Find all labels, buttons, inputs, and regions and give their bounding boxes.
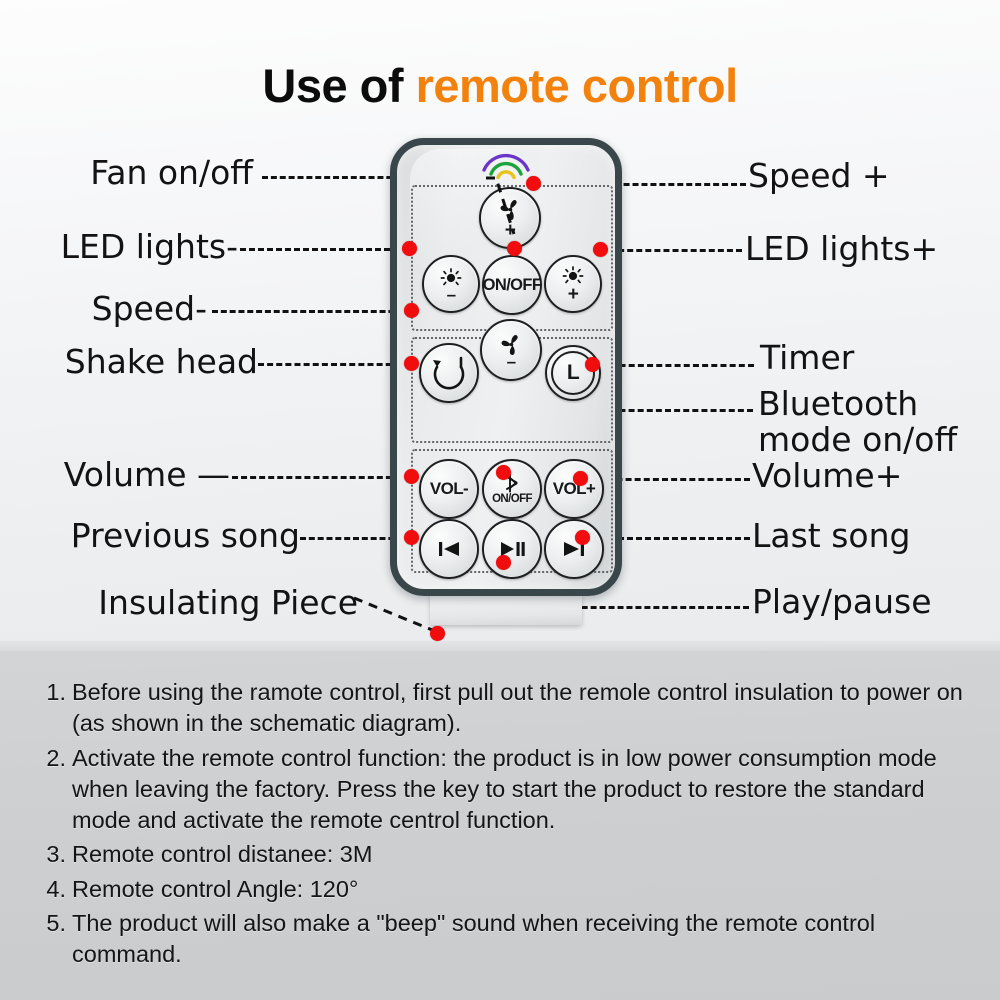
- instruction-item: 2. Activate the remote control function:…: [34, 743, 970, 837]
- volume-down-button[interactable]: VOL-: [419, 459, 479, 519]
- label-text: Play/pause: [752, 582, 932, 621]
- instruction-item: 5. The product will also make a "beep" s…: [34, 908, 970, 971]
- power-label: ON/OFF: [483, 276, 542, 295]
- label-text: Previous song: [71, 516, 300, 555]
- instruction-item: 4. Remote control Angle: 120°: [34, 874, 970, 905]
- instruction-number: 3.: [34, 839, 66, 870]
- instruction-item: 3. Remote control distanee: 3M: [34, 839, 970, 870]
- led-up-sign: +: [568, 288, 579, 301]
- label-text: LED lights+: [745, 229, 938, 268]
- fan-speed-down-button[interactable]: –: [480, 319, 542, 381]
- label-text: Volume —: [64, 455, 230, 494]
- marker-last-song: [575, 530, 590, 545]
- label-volume-minus: Volume —: [64, 457, 230, 493]
- instruction-text: Before using the ramote control, first p…: [72, 679, 963, 736]
- label-text: LED lights-: [61, 227, 238, 266]
- marker-bluetooth: [496, 465, 511, 480]
- label-text: Speed-: [92, 289, 207, 328]
- power-on-off-button[interactable]: ON/OFF: [482, 255, 542, 315]
- label-timer: Timer: [760, 340, 854, 376]
- label-text: Volume+: [752, 456, 902, 495]
- volume-down-label: VOL-: [430, 479, 468, 499]
- label-bluetooth-mode: Bluetooth mode on/off: [758, 386, 957, 457]
- play-pause-button[interactable]: [482, 519, 542, 579]
- timer-label: L: [567, 361, 579, 385]
- previous-track-icon: [435, 539, 463, 559]
- insulating-piece-tab: [430, 592, 582, 625]
- next-track-button[interactable]: [544, 519, 604, 579]
- label-fan-on-off: Fan on/off: [90, 155, 253, 191]
- label-speed-plus: Speed +: [748, 158, 890, 194]
- label-shake-head: Shake head: [65, 344, 258, 380]
- instruction-text: Remote control Angle: 120°: [72, 876, 358, 902]
- label-speed-minus: Speed-: [92, 291, 207, 327]
- page-title: Use of remote control: [0, 58, 1000, 113]
- infographic-root: Use of remote control Fan on/off LED lig…: [0, 0, 1000, 1000]
- oscillate-icon: [429, 354, 469, 392]
- marker-play-pause: [496, 555, 511, 570]
- label-text: Fan on/off: [90, 153, 253, 192]
- previous-track-button[interactable]: [419, 519, 479, 579]
- shake-head-button[interactable]: [419, 343, 479, 403]
- leader-volume-minus: [232, 476, 410, 479]
- label-text: Insulating Piece: [98, 583, 358, 622]
- marker-speed-minus: [404, 303, 419, 318]
- marker-previous-song: [404, 530, 419, 545]
- diagram-panel: Use of remote control Fan on/off LED lig…: [0, 0, 1000, 651]
- timer-button[interactable]: L: [545, 345, 601, 401]
- label-previous-song: Previous song: [71, 518, 300, 554]
- marker-volume-minus: [404, 469, 419, 484]
- label-text: Bluetooth: [758, 384, 918, 423]
- label-text: Speed +: [748, 156, 890, 195]
- label-led-lights-plus: LED lights+: [745, 231, 938, 267]
- leader-speed-minus: [212, 310, 412, 313]
- instruction-text: Activate the remote control function: th…: [72, 745, 937, 834]
- leader-shake-head: [258, 363, 410, 366]
- instruction-list: 1. Before using the ramote control, firs…: [34, 677, 970, 970]
- marker-led-minus: [402, 241, 417, 256]
- instructions-panel: 1. Before using the ramote control, firs…: [0, 651, 1000, 1000]
- leader-led-minus: [240, 248, 408, 251]
- marker-fan-on-off: [507, 241, 522, 256]
- marker-insulating-piece: [430, 626, 445, 641]
- instruction-text: The product will also make a "beep" soun…: [72, 910, 875, 967]
- label-insulating-piece: Insulating Piece: [98, 585, 358, 621]
- instruction-number: 4.: [34, 874, 66, 905]
- label-text: Timer: [760, 338, 854, 377]
- marker-volume-plus: [573, 471, 588, 486]
- led-up-button[interactable]: +: [544, 255, 602, 313]
- label-text-line2: mode on/off: [758, 420, 957, 459]
- instruction-number: 1.: [34, 677, 66, 708]
- instruction-text: Remote control distanee: 3M: [72, 841, 372, 867]
- fan-down-sign: –: [507, 357, 516, 367]
- marker-shake-head: [404, 356, 419, 371]
- marker-speed-plus: [526, 176, 541, 191]
- label-volume-plus: Volume+: [752, 458, 902, 494]
- title-part-accent: remote control: [416, 59, 738, 112]
- label-play-pause: Play/pause: [752, 584, 932, 620]
- label-text: Shake head: [65, 342, 258, 381]
- led-down-sign: –: [447, 290, 456, 300]
- marker-led-plus: [593, 242, 608, 257]
- bluetooth-label: ON/OFF: [492, 494, 532, 506]
- leader-fan-on-off-diagonal: [484, 172, 524, 252]
- label-led-lights-minus: LED lights-: [61, 229, 238, 265]
- label-text: Last song: [752, 516, 910, 555]
- volume-up-button[interactable]: VOL+: [544, 459, 604, 519]
- title-part-dark: Use of: [262, 59, 415, 112]
- instruction-number: 2.: [34, 743, 66, 774]
- bluetooth-on-off-button[interactable]: ON/OFF: [482, 459, 542, 519]
- marker-timer: [585, 357, 600, 372]
- instruction-item: 1. Before using the ramote control, firs…: [34, 677, 970, 740]
- label-last-song: Last song: [752, 518, 910, 554]
- instruction-number: 5.: [34, 908, 66, 939]
- led-down-button[interactable]: –: [422, 255, 480, 313]
